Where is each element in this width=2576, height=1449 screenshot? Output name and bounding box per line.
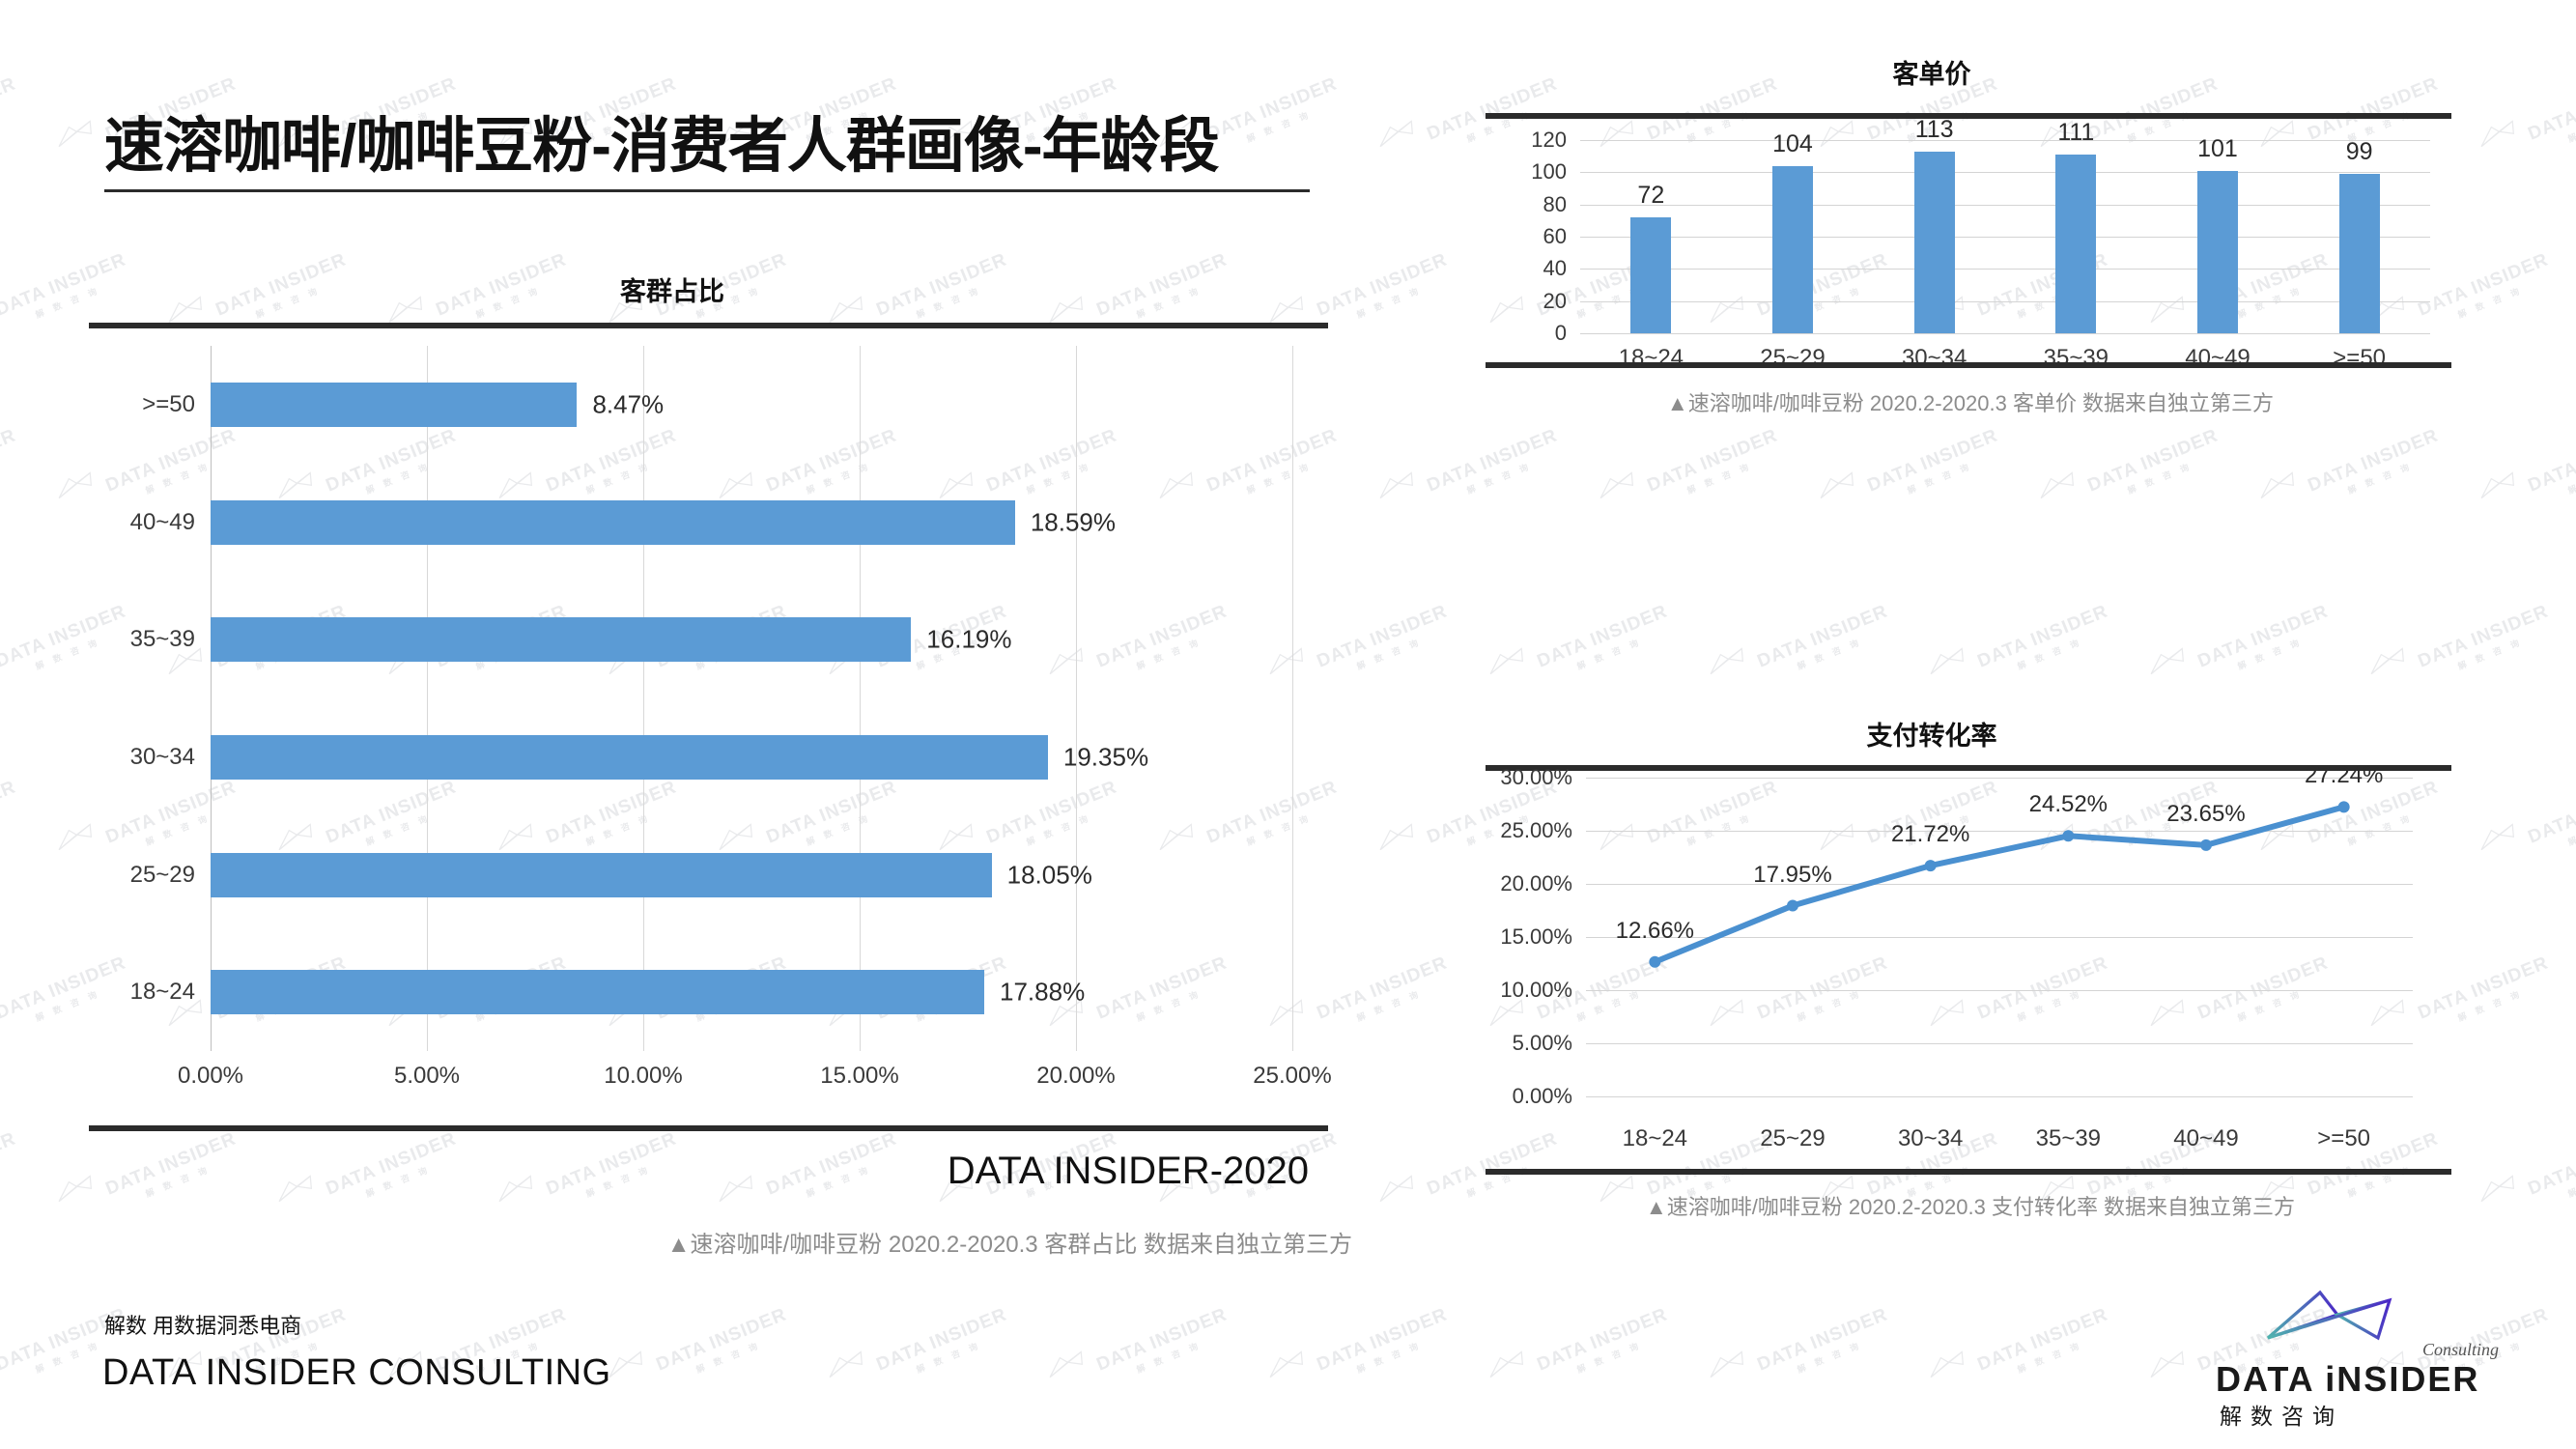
y-axis-tick-label: 120 <box>1531 128 1567 153</box>
gridline-horizontal <box>1580 333 2430 334</box>
data-point-label: 21.72% <box>1891 821 1969 848</box>
y-axis-tick-label: 20 <box>1543 289 1567 314</box>
x-axis-tick-label: 0.00% <box>178 1063 243 1090</box>
logo-consulting-text: Consulting <box>2422 1340 2499 1360</box>
bar-category-label: 30~34 <box>130 744 195 771</box>
x-axis-tick-label: 25.00% <box>1253 1063 1331 1090</box>
y-axis-tick-label: 0.00% <box>1513 1084 1572 1109</box>
x-axis-tick-label: 40~49 <box>2173 1125 2238 1152</box>
chart-rule-top <box>89 323 1328 328</box>
bar-row[interactable]: >=508.47% <box>211 383 1292 427</box>
data-point-marker[interactable] <box>1925 860 1937 871</box>
x-axis-tick-label: 5.00% <box>394 1063 460 1090</box>
y-axis-tick-label: 40 <box>1543 256 1567 281</box>
bowtie-logo-icon <box>2262 1290 2397 1344</box>
y-axis-tick-label: 60 <box>1543 224 1567 249</box>
watermark-item: DATA INSIDER解 数 咨 询 <box>1534 1304 1676 1388</box>
logo-cn-text: 解数咨询 <box>2220 1398 2343 1431</box>
bar-value-label: 111 <box>2057 119 2094 147</box>
x-axis-tick-label: 18~24 <box>1623 1125 1687 1152</box>
footer-tagline-cn: 解数 用数据洞悉电商 <box>104 1309 301 1340</box>
bar[interactable] <box>2197 171 2238 333</box>
bar[interactable] <box>2055 155 2096 333</box>
data-point-marker[interactable] <box>2062 830 2074 841</box>
data-point-label: 27.24% <box>2305 762 2383 789</box>
chart-caption-payment-conversion: ▲速溶咖啡/咖啡豆粉 2020.2-2020.3 支付转化率 数据来自独立第三方 <box>1401 1190 2540 1221</box>
bar-column[interactable]: 10140~49 <box>2147 140 2289 333</box>
chart-panel-unit-price: 客单价 0204060801001207218~2410425~2911330~… <box>1401 0 2576 696</box>
bar-value-label: 8.47% <box>592 389 664 419</box>
watermark-text-cn: 解 数 咨 询 <box>1983 1325 2116 1389</box>
bar-value-label: 101 <box>2197 135 2238 163</box>
bar-column[interactable]: 10425~29 <box>1722 140 1864 333</box>
chart-caption-unit-price: ▲速溶咖啡/咖啡豆粉 2020.2-2020.3 客单价 数据来自独立第三方 <box>1401 386 2540 417</box>
company-logo: Consulting DATA iNSIDER 解数咨询 <box>2212 1290 2531 1430</box>
bar-category-label: 40~49 <box>130 509 195 536</box>
plot-area-unit-price: 0204060801001207218~2410425~2911330~3411… <box>1580 140 2430 333</box>
data-point-label: 23.65% <box>2166 801 2245 828</box>
bar-value-label: 104 <box>1772 130 1813 158</box>
bar-column[interactable]: 11135~39 <box>2005 140 2147 333</box>
watermark-item: DATA INSIDER解 数 咨 询 <box>1974 1304 2116 1388</box>
bar[interactable] <box>211 853 992 897</box>
x-axis-tick-label: 10.00% <box>604 1063 682 1090</box>
x-axis-tick-label: 15.00% <box>820 1063 898 1090</box>
bar-value-label: 72 <box>1637 182 1664 210</box>
chart-panel-customer-share: 客群占比 >=508.47%40~4918.59%35~3916.19%30~3… <box>0 0 1401 1449</box>
x-axis-tick-label: 30~34 <box>1898 1125 1963 1152</box>
bar[interactable] <box>211 383 577 427</box>
chart-rule-bottom <box>1486 362 2451 368</box>
bar-column[interactable]: 99>=50 <box>2288 140 2430 333</box>
bar-value-label: 99 <box>2346 138 2373 166</box>
y-axis-tick-label: 25.00% <box>1500 818 1572 843</box>
watermark-item: DATA INSIDER解 数 咨 询 <box>1754 1304 1896 1388</box>
bowtie-logo-icon <box>1482 1345 1530 1382</box>
brand-line: DATA INSIDER-2020 <box>0 1150 1309 1193</box>
gridline-vertical <box>1292 346 1293 1051</box>
bar-column[interactable]: 7218~24 <box>1580 140 1722 333</box>
data-point-marker[interactable] <box>2200 839 2212 851</box>
data-point-marker[interactable] <box>1787 900 1798 912</box>
data-point-marker[interactable] <box>2338 801 2350 812</box>
y-axis-tick-label: 80 <box>1543 192 1567 217</box>
bar[interactable] <box>211 735 1048 780</box>
bar-row[interactable]: 18~2417.88% <box>211 970 1292 1014</box>
bar-value-label: 16.19% <box>926 625 1011 655</box>
gridline-vertical <box>427 346 428 1051</box>
y-axis-tick-label: 0 <box>1555 321 1567 346</box>
chart-title-unit-price: 客单价 <box>1401 53 2463 91</box>
gridline-vertical <box>643 346 644 1051</box>
watermark-text: DATA INSIDER <box>1974 1304 2110 1375</box>
bar-value-label: 19.35% <box>1063 742 1148 772</box>
chart-title-text: 客群占比 <box>620 270 724 308</box>
bar-row[interactable]: 40~4918.59% <box>211 500 1292 545</box>
bowtie-logo-icon <box>2142 1345 2191 1382</box>
data-point-label: 12.66% <box>1616 918 1694 945</box>
data-point-marker[interactable] <box>1649 956 1660 968</box>
bar-value-label: 17.88% <box>1000 978 1085 1008</box>
bar[interactable] <box>211 617 911 662</box>
gridline-vertical <box>211 346 212 1051</box>
bar-row[interactable]: 35~3916.19% <box>211 617 1292 662</box>
bar-row[interactable]: 30~3419.35% <box>211 735 1292 780</box>
bar[interactable] <box>1772 166 1813 333</box>
x-axis-tick-label: 20.00% <box>1036 1063 1115 1090</box>
bar-value-label: 18.59% <box>1031 507 1116 537</box>
chart-panel-payment-conversion: 支付转化率 0.00%5.00%10.00%15.00%20.00%25.00%… <box>1401 715 2576 1294</box>
chart-title-customer-share: 客群占比 <box>0 270 1401 308</box>
watermark-text: DATA INSIDER <box>1754 1304 1890 1375</box>
bowtie-logo-icon <box>1702 1345 1750 1382</box>
bar-category-label: 25~29 <box>130 862 195 889</box>
bar-category-label: 35~39 <box>130 626 195 653</box>
bar-column[interactable]: 11330~34 <box>1863 140 2005 333</box>
bar[interactable] <box>1630 217 1671 333</box>
y-axis-tick-label: 100 <box>1531 159 1567 185</box>
x-axis-tick-label: 25~29 <box>1760 1125 1825 1152</box>
bar-row[interactable]: 25~2918.05% <box>211 853 1292 897</box>
x-axis-tick-label: 35~39 <box>2036 1125 2101 1152</box>
bar[interactable] <box>1914 152 1955 333</box>
plot-area-customer-share: >=508.47%40~4918.59%35~3916.19%30~3419.3… <box>211 346 1292 1051</box>
data-point-label: 24.52% <box>2029 791 2108 818</box>
footer-company-en: DATA INSIDER CONSULTING <box>102 1352 611 1394</box>
y-axis-tick-label: 20.00% <box>1500 871 1572 896</box>
bar-value-label: 113 <box>1915 116 1954 144</box>
y-axis-tick-label: 5.00% <box>1513 1031 1572 1056</box>
data-point-label: 17.95% <box>1753 862 1831 889</box>
chart-title-payment-conversion: 支付转化率 <box>1401 715 2463 753</box>
bar[interactable] <box>211 500 1015 545</box>
line-series <box>1586 778 2413 1096</box>
gridline-vertical <box>860 346 861 1051</box>
bowtie-logo-icon <box>1922 1345 1970 1382</box>
chart-rule-bottom <box>89 1125 1328 1131</box>
gridline-vertical <box>1076 346 1077 1051</box>
watermark-text: DATA INSIDER <box>1534 1304 1670 1375</box>
bar-category-label: 18~24 <box>130 979 195 1006</box>
bar-value-label: 18.05% <box>1007 860 1092 890</box>
watermark-text-cn: 解 数 咨 询 <box>1543 1325 1676 1389</box>
bar[interactable] <box>2339 174 2380 333</box>
y-axis-tick-label: 30.00% <box>1500 765 1572 790</box>
logo-main-text: DATA iNSIDER <box>2216 1359 2479 1400</box>
watermark-text-cn: 解 数 咨 询 <box>1763 1325 1896 1389</box>
chart-rule-top <box>1486 113 2451 119</box>
bar[interactable] <box>211 970 984 1014</box>
y-axis-tick-label: 15.00% <box>1500 924 1572 950</box>
chart-caption-customer-share: ▲速溶咖啡/咖啡豆粉 2020.2-2020.3 客群占比 数据来自独立第三方 <box>0 1225 1352 1259</box>
chart-rule-bottom <box>1486 1169 2451 1175</box>
plot-area-payment-conversion: 0.00%5.00%10.00%15.00%20.00%25.00%30.00%… <box>1586 778 2413 1096</box>
gridline-horizontal <box>1586 1096 2413 1097</box>
bar-category-label: >=50 <box>142 391 195 418</box>
y-axis-tick-label: 10.00% <box>1500 978 1572 1003</box>
x-axis-tick-label: >=50 <box>2317 1125 2370 1152</box>
